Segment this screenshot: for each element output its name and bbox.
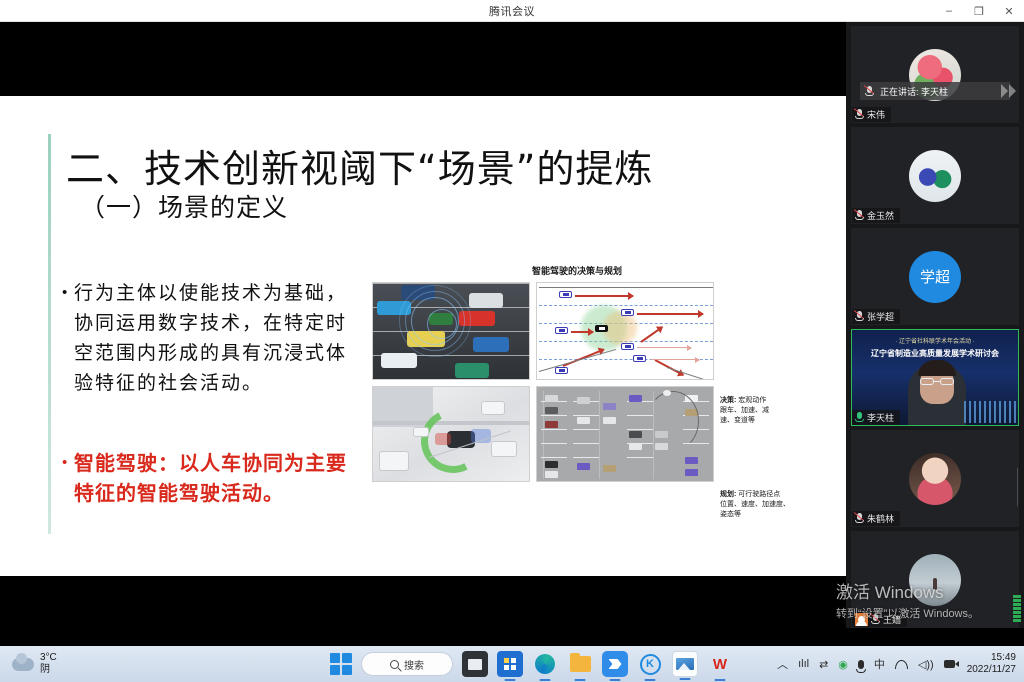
avatar: [909, 453, 961, 505]
minimize-button[interactable]: –: [934, 0, 964, 22]
avatar: [909, 554, 961, 606]
participant-name-chip: 宋伟: [852, 107, 891, 122]
clock-time: 15:49: [967, 652, 1016, 664]
participant-name: 朱鹤林: [867, 512, 894, 525]
system-tray: ︿ ılıl ⇄ ◉ 中 ◁)) 15:49 2022/11/27: [777, 652, 1024, 676]
search-icon: [390, 660, 399, 669]
mic-muted-icon: [871, 614, 880, 625]
volume-meter: [1013, 588, 1021, 622]
network-adapter-icon[interactable]: ⇄: [819, 658, 828, 671]
cloud-icon: [12, 658, 34, 671]
microsoft-store-icon[interactable]: [497, 651, 523, 677]
taskbar-clock[interactable]: 15:49 2022/11/27: [965, 652, 1016, 676]
bullet-dot-icon: •: [62, 278, 74, 308]
slide-bullet-1: • 行为主体以使能技术为基础，协同运用数字技术，在特定时空范围内形成的具有沉浸式…: [62, 278, 362, 398]
chevron-right-icon: [1001, 84, 1016, 98]
slide-figure: 智能驾驶的决策与规划: [370, 278, 810, 538]
wps-office-icon[interactable]: W: [707, 651, 733, 677]
meeting-window: 腾讯会议 – ❐ ✕ 二、技术创新视阈下“场景”的提炼 （一）场景的定义 • 行…: [0, 0, 1024, 682]
search-input[interactable]: 搜索: [361, 652, 453, 676]
active-speaker-banner: 正在讲话: 李天柱: [860, 82, 1010, 100]
participant-tile[interactable]: 朱鹤林: [851, 430, 1019, 527]
bullet-dot-icon: •: [62, 448, 74, 478]
participant-tile[interactable]: 学超 张学超: [851, 228, 1019, 325]
clock-date: 2022/11/27: [967, 664, 1016, 676]
slide-title: 二、技术创新视阈下“场景”的提炼: [66, 138, 653, 193]
figure-panel-lane-decision: [536, 282, 714, 380]
figure-panel-parking-lot: [536, 386, 714, 482]
wifi-icon[interactable]: [895, 660, 908, 669]
kugou-glyph: K: [640, 654, 661, 675]
avatar: 学超: [909, 251, 961, 303]
slide-bullet-2: • 智能驾驶：以人车协同为主要特征的智能驾驶活动。: [62, 448, 362, 508]
avatar: [909, 150, 961, 202]
avatar-initials: 学超: [920, 266, 950, 287]
mic-muted-icon: [855, 311, 864, 322]
figure-title: 智能驾驶的决策与规划: [532, 264, 622, 277]
participant-name: 李天柱: [867, 411, 894, 424]
mic-muted-icon: [855, 109, 864, 120]
participant-name-chip: 金玉然: [852, 208, 900, 223]
participant-rail[interactable]: 正在讲话: 李天柱 宋伟 金玉然 学超 张学超: [846, 22, 1024, 628]
tray-overflow-icon[interactable]: ︿: [777, 656, 788, 672]
close-button[interactable]: ✕: [994, 0, 1024, 22]
wps-glyph: W: [713, 656, 727, 673]
annotation-label-planning: 规划:: [720, 491, 736, 498]
equalizer-icon[interactable]: ılıl: [798, 658, 809, 670]
participant-tile-active-speaker[interactable]: · 辽宁省社科联学术年会活动 · 辽宁省制造业高质量发展学术研讨会 李天柱: [851, 329, 1019, 426]
host-badge-icon: [855, 613, 868, 626]
video-banner-line-1: · 辽宁省社科联学术年会活动 ·: [852, 336, 1018, 345]
volume-icon[interactable]: ◁)): [918, 658, 934, 671]
slide-accent-bar: [48, 134, 51, 534]
security-shield-icon[interactable]: ◉: [838, 658, 848, 671]
tencent-meeting-icon[interactable]: [602, 651, 628, 677]
annotation-label-decision: 决策:: [720, 397, 736, 404]
participant-name-chip: 王嫱: [852, 612, 907, 627]
participant-tile[interactable]: 金玉然: [851, 127, 1019, 224]
mic-muted-icon: [865, 86, 874, 97]
presentation-slide: 二、技术创新视阈下“场景”的提炼 （一）场景的定义 • 行为主体以使能技术为基础…: [0, 96, 846, 576]
microsoft-edge-icon[interactable]: [532, 651, 558, 677]
participant-name: 张学超: [867, 310, 894, 323]
photos-app-icon[interactable]: [672, 651, 698, 677]
participant-name: 宋伟: [867, 108, 885, 121]
participant-name-chip: 张学超: [852, 309, 900, 324]
weather-condition: 阴: [40, 664, 57, 676]
participant-name: 金玉然: [867, 209, 894, 222]
ime-indicator[interactable]: 中: [874, 656, 885, 672]
figure-panel-lane-change-render: [372, 386, 530, 482]
task-view-icon[interactable]: [462, 651, 488, 677]
search-placeholder: 搜索: [404, 657, 424, 672]
rail-scrollbar[interactable]: [1017, 467, 1019, 507]
weather-temperature: 3°C: [40, 652, 57, 664]
start-button[interactable]: [330, 653, 352, 675]
participant-tile[interactable]: 正在讲话: 李天柱 宋伟: [851, 26, 1019, 123]
video-banner-line-2: 辽宁省制造业高质量发展学术研讨会: [852, 348, 1018, 359]
active-speaker-text: 正在讲话: 李天柱: [880, 85, 948, 98]
taskbar-weather-widget[interactable]: 3°C 阴: [0, 652, 330, 676]
file-explorer-icon[interactable]: [567, 651, 593, 677]
maximize-button[interactable]: ❐: [964, 0, 994, 22]
microphone-icon[interactable]: [858, 660, 864, 669]
mic-muted-icon: [855, 513, 864, 524]
participant-name: 王嫱: [883, 613, 901, 626]
taskbar-app-strip: 搜索: [330, 651, 733, 677]
slide-subtitle: （一）场景的定义: [80, 188, 288, 224]
windows-taskbar: 3°C 阴 搜索: [0, 646, 1024, 682]
participant-name-chip: 李天柱: [852, 410, 900, 425]
bullet-text-2: 智能驾驶：以人车协同为主要特征的智能驾驶活动。: [74, 448, 362, 508]
window-title: 腾讯会议: [489, 3, 535, 19]
figure-annotation-planning: 规划: 可行驶路径点 位置、速度、加速度、 姿态等: [720, 490, 812, 520]
figure-annotation-decision: 决策: 宏观动作 跟车、加速、减 速、变道等: [720, 396, 812, 426]
window-title-bar: 腾讯会议 – ❐ ✕: [0, 0, 1024, 22]
participant-name-chip: 朱鹤林: [852, 511, 900, 526]
shared-screen-stage[interactable]: 二、技术创新视阈下“场景”的提炼 （一）场景的定义 • 行为主体以使能技术为基础…: [0, 22, 846, 628]
participant-tile[interactable]: 王嫱: [851, 531, 1019, 628]
mic-muted-icon: [855, 210, 864, 221]
window-controls: – ❐ ✕: [934, 0, 1024, 22]
figure-panel-aerial-traffic: [372, 282, 530, 380]
bullet-text-1: 行为主体以使能技术为基础，协同运用数字技术，在特定时空范围内形成的具有沉浸式体验…: [74, 278, 362, 398]
camera-icon[interactable]: [944, 660, 955, 668]
mic-on-icon: [855, 412, 864, 423]
kugou-music-icon[interactable]: K: [637, 651, 663, 677]
